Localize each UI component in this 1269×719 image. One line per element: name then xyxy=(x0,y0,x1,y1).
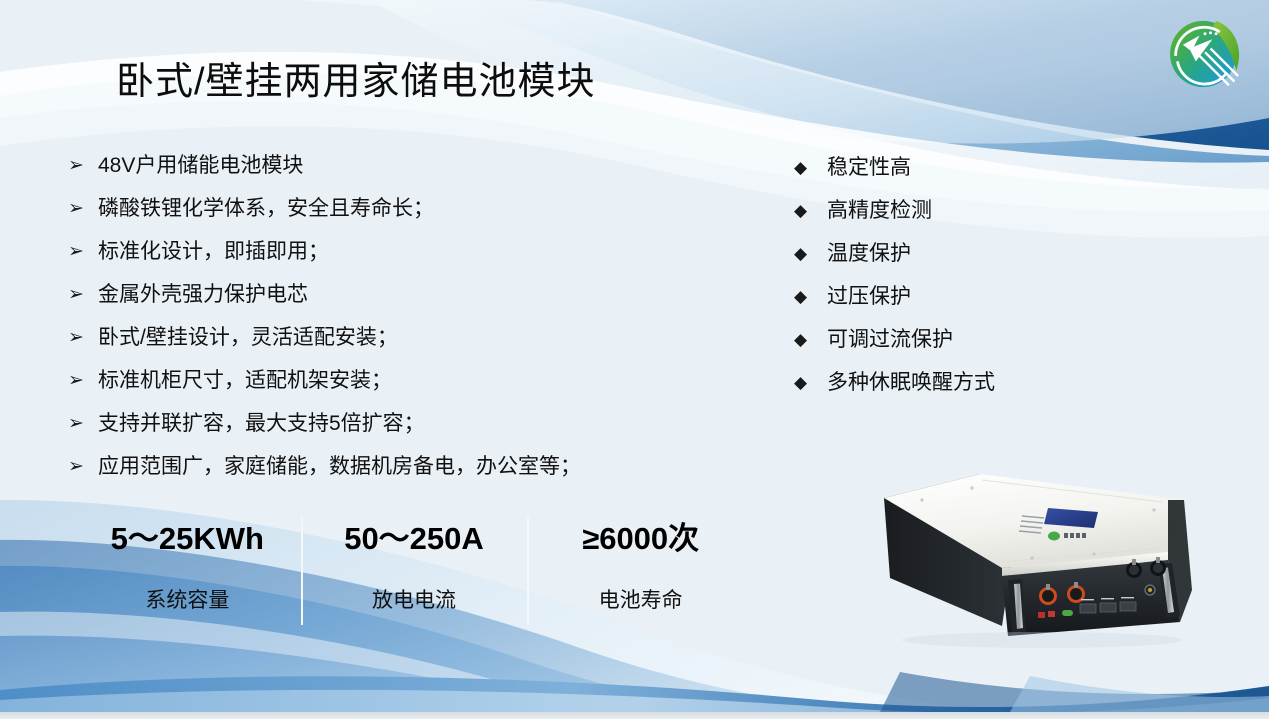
list-item-label: 温度保护 xyxy=(827,238,1124,269)
diamond-bullet-icon: ◆ xyxy=(794,152,827,183)
diamond-bullet-icon: ◆ xyxy=(794,195,827,226)
list-item-label: 标准化设计，即插即用； xyxy=(98,236,728,267)
arrow-bullet-icon: ➢ xyxy=(68,408,98,439)
spec-discharge-current: 50〜250A 放电电流 xyxy=(301,513,528,628)
list-item: ◆ 温度保护 xyxy=(794,238,1124,281)
spec-value: ≥6000次 xyxy=(527,519,754,559)
list-item-label: 标准机柜尺寸，适配机架安装； xyxy=(98,365,728,396)
diamond-bullet-icon: ◆ xyxy=(794,324,827,355)
list-item-label: 稳定性高 xyxy=(827,152,1124,183)
spec-label: 放电电流 xyxy=(301,586,528,616)
spec-highlights: 5〜25KWh 系统容量 50〜250A 放电电流 ≥6000次 电池寿命 xyxy=(74,513,754,628)
presentation-slide: 卧式/壁挂两用家储电池模块 ➢ 48V户用储能电池模块 ➢ 磷酸铁锂化学体系，安… xyxy=(0,0,1269,719)
list-item-label: 48V户用储能电池模块 xyxy=(98,150,728,181)
list-item-label: 磷酸铁锂化学体系，安全且寿命长； xyxy=(98,193,728,224)
bottom-edge-strip xyxy=(0,712,1269,719)
list-item: ➢ 卧式/壁挂设计，灵活适配安装； xyxy=(68,322,728,365)
diamond-bullet-icon: ◆ xyxy=(794,238,827,269)
list-item: ◆ 多种休眠唤醒方式 xyxy=(794,367,1124,410)
list-item-label: 过压保护 xyxy=(827,281,1124,312)
arrow-bullet-icon: ➢ xyxy=(68,451,98,482)
diamond-bullet-icon: ◆ xyxy=(794,281,827,312)
spec-label: 电池寿命 xyxy=(527,586,754,616)
list-item-label: 高精度检测 xyxy=(827,195,1124,226)
list-item: ➢ 应用范围广，家庭储能，数据机房备电，办公室等； xyxy=(68,451,728,494)
list-item: ◆ 过压保护 xyxy=(794,281,1124,324)
list-item: ➢ 金属外壳强力保护电芯 xyxy=(68,279,728,322)
page-title: 卧式/壁挂两用家储电池模块 xyxy=(116,58,596,106)
arrow-bullet-icon: ➢ xyxy=(68,365,98,396)
list-item: ➢ 标准化设计，即插即用； xyxy=(68,236,728,279)
arrow-bullet-icon: ➢ xyxy=(68,279,98,310)
list-item-label: 应用范围广，家庭储能，数据机房备电，办公室等； xyxy=(98,451,728,482)
list-item-label: 支持并联扩容，最大支持5倍扩容； xyxy=(98,408,728,439)
spec-label: 系统容量 xyxy=(74,586,301,616)
spec-cycle-life: ≥6000次 电池寿命 xyxy=(527,513,754,628)
spec-value: 50〜250A xyxy=(301,519,528,559)
spec-capacity: 5〜25KWh 系统容量 xyxy=(74,513,301,628)
list-item: ➢ 48V户用储能电池模块 xyxy=(68,150,728,193)
list-item-label: 可调过流保护 xyxy=(827,324,1124,355)
diamond-bullet-icon: ◆ xyxy=(794,367,827,398)
battery-module-photo xyxy=(862,440,1252,665)
features-right-list: ◆ 稳定性高 ◆ 高精度检测 ◆ 温度保护 ◆ 过压保护 ◆ 可调过流保护 ◆ … xyxy=(794,152,1124,410)
list-item: ◆ 高精度检测 xyxy=(794,195,1124,238)
arrow-bullet-icon: ➢ xyxy=(68,193,98,224)
list-item: ➢ 支持并联扩容，最大支持5倍扩容； xyxy=(68,408,728,451)
list-item-label: 金属外壳强力保护电芯 xyxy=(98,279,728,310)
arrow-bullet-icon: ➢ xyxy=(68,150,98,181)
list-item: ◆ 稳定性高 xyxy=(794,152,1124,195)
company-logo-icon xyxy=(1159,8,1251,100)
arrow-bullet-icon: ➢ xyxy=(68,322,98,353)
list-item-label: 多种休眠唤醒方式 xyxy=(827,367,1124,398)
list-item: ◆ 可调过流保护 xyxy=(794,324,1124,367)
arrow-bullet-icon: ➢ xyxy=(68,236,98,267)
features-left-list: ➢ 48V户用储能电池模块 ➢ 磷酸铁锂化学体系，安全且寿命长； ➢ 标准化设计… xyxy=(68,150,728,494)
list-item: ➢ 磷酸铁锂化学体系，安全且寿命长； xyxy=(68,193,728,236)
list-item-label: 卧式/壁挂设计，灵活适配安装； xyxy=(98,322,728,353)
spec-value: 5〜25KWh xyxy=(74,519,301,559)
list-item: ➢ 标准机柜尺寸，适配机架安装； xyxy=(68,365,728,408)
